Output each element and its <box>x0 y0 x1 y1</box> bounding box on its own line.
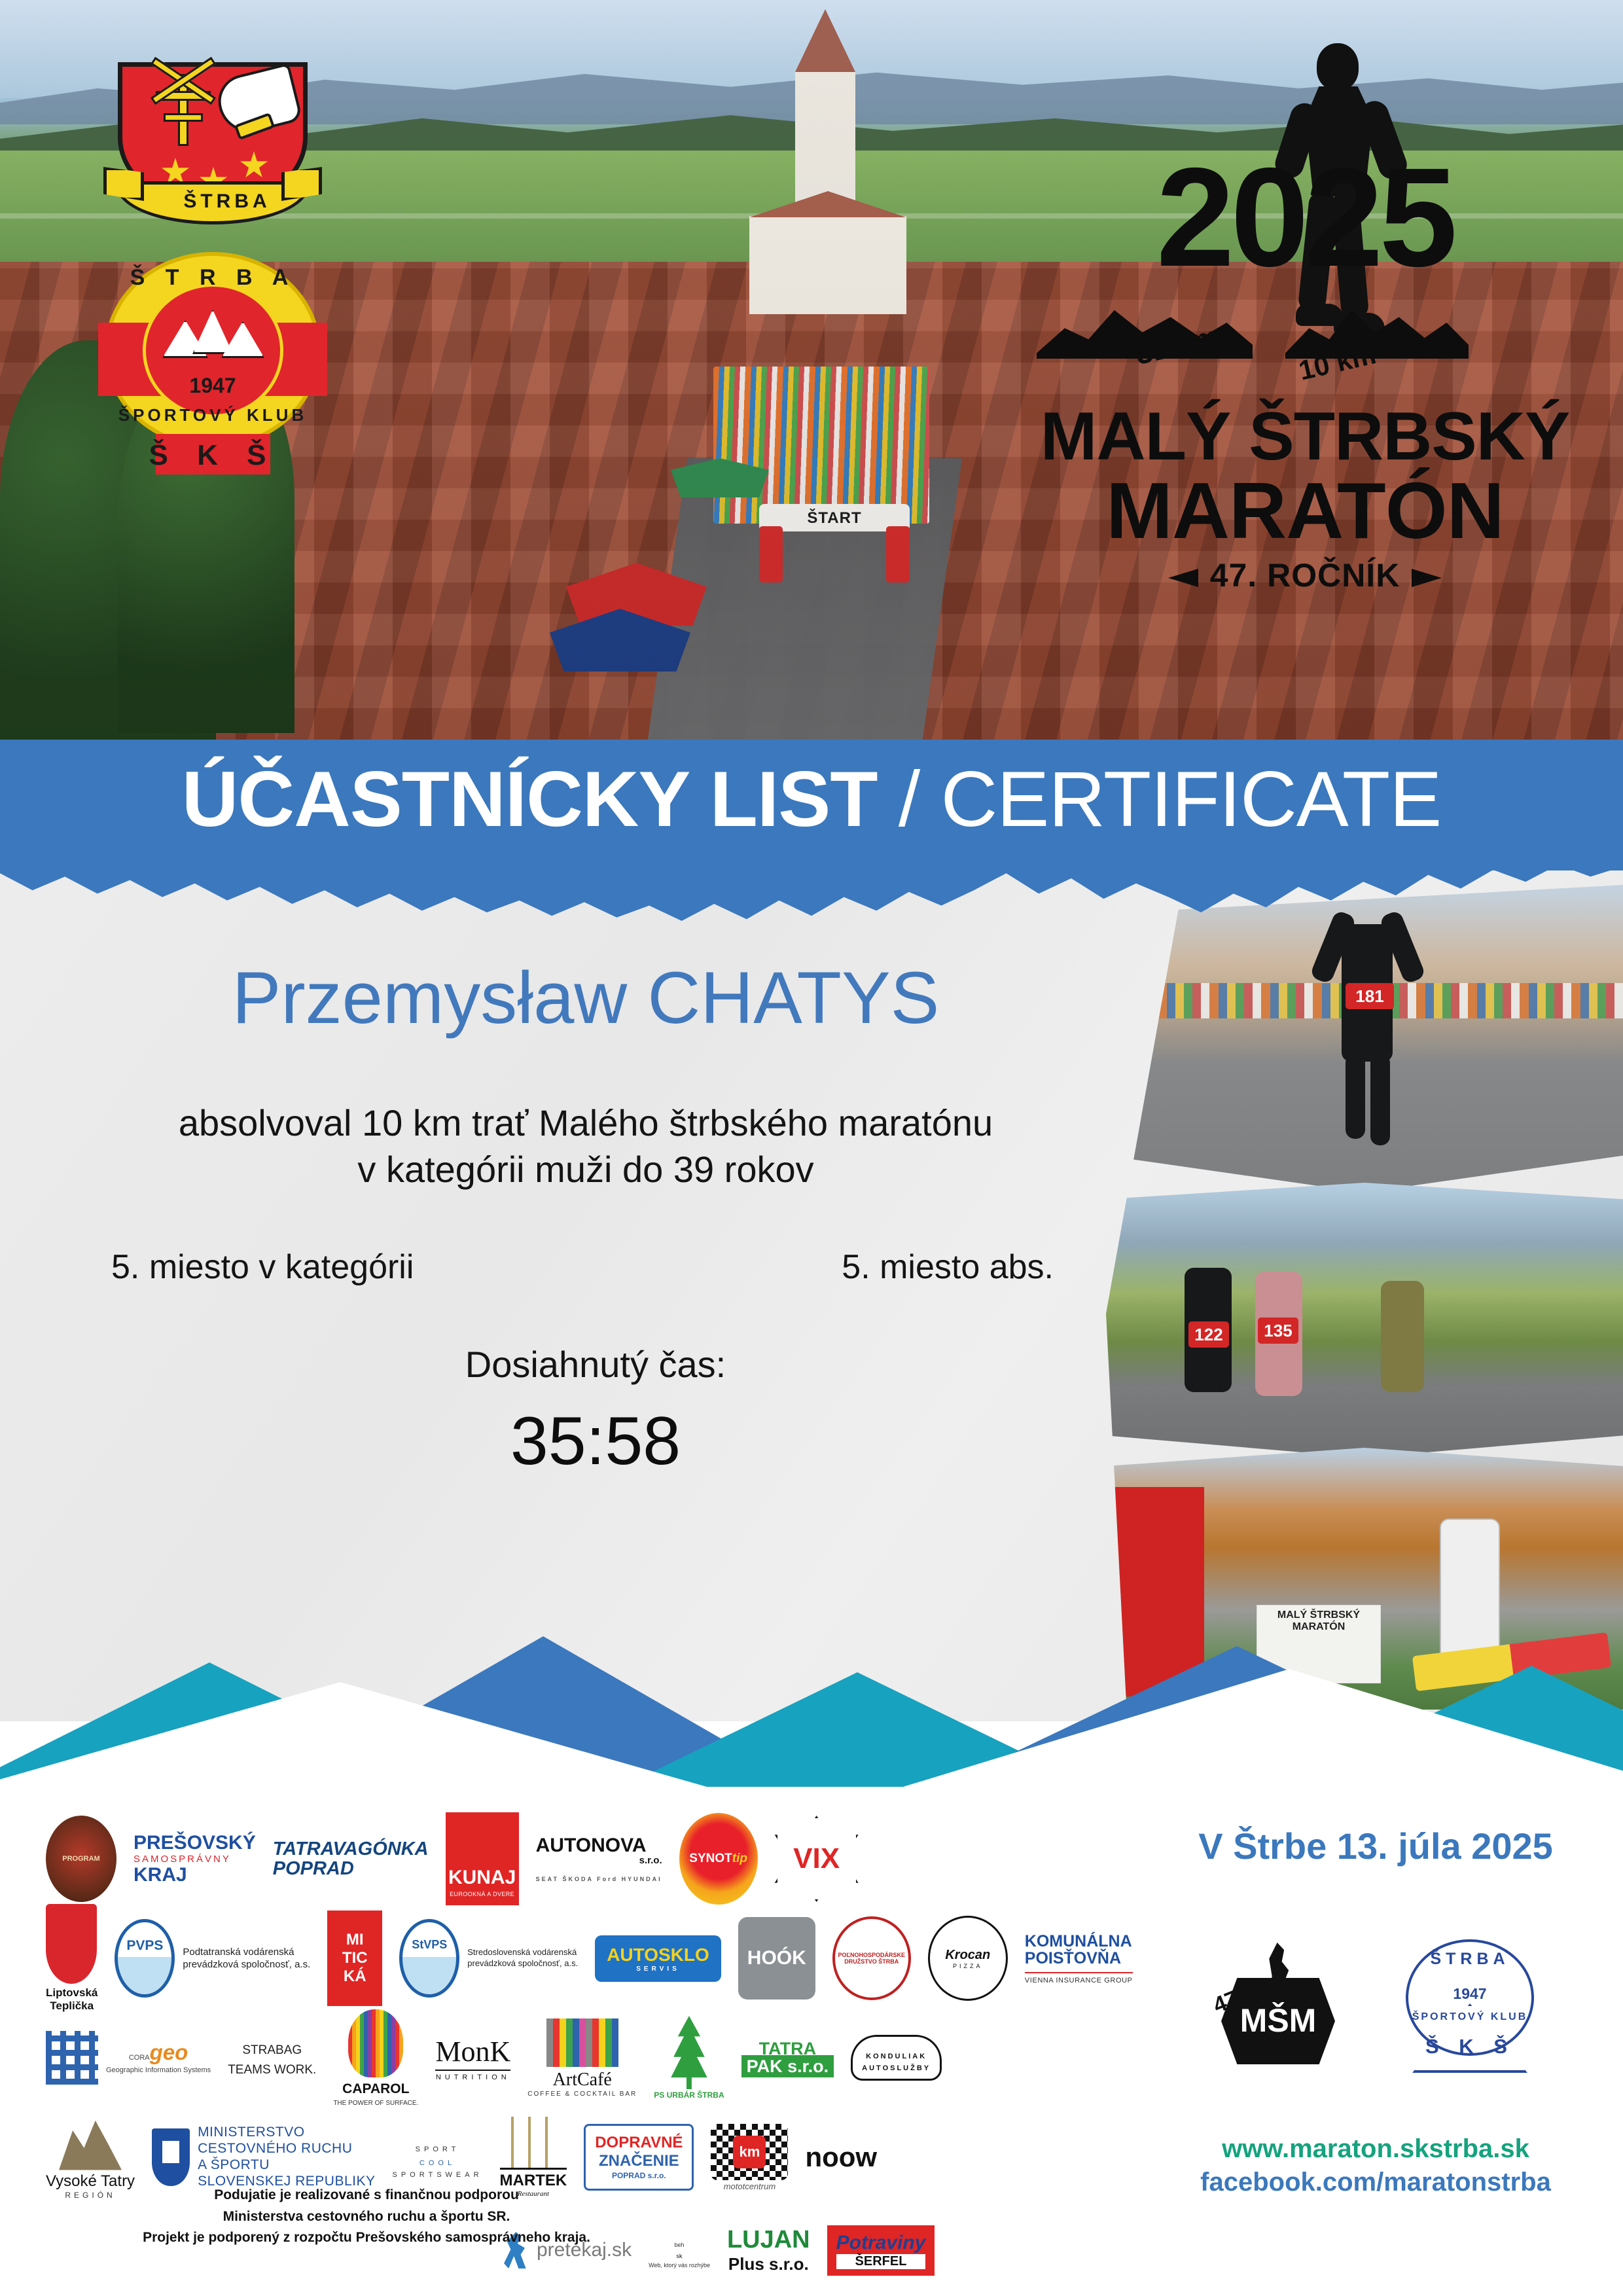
sponsor-label: PAK s.r.o. <box>741 2055 834 2077</box>
sponsor-km-mototcentrum: km mototcentrum <box>711 2124 788 2191</box>
sponsor-label: PVPS <box>115 1919 175 1998</box>
sponsor-label: Potraviny <box>836 2232 926 2254</box>
bib-number: 122 <box>1188 1321 1229 1348</box>
sponsor-ps-urbar-strba: PS URBÁR ŠTRBA <box>654 2016 724 2100</box>
sponsor-label: Stredoslovenská vodárenská <box>467 1947 578 1958</box>
sponsor-label: PS URBÁR ŠTRBA <box>654 2090 724 2100</box>
description-line-1: absolvoval 10 km trať Malého štrbského m… <box>20 1100 1152 1147</box>
sponsor-label: AUTONOVA <box>536 1836 662 1856</box>
sponsor-monk-nutrition: MonK NUTRITION <box>435 2035 510 2081</box>
sponsor-label: MonK <box>435 2036 510 2068</box>
collage-photo-group: 122 135 <box>1106 1183 1623 1458</box>
mountain-divider <box>0 1604 1623 1787</box>
bib-number: 181 <box>1346 983 1394 1009</box>
mountain-outline-right <box>1285 289 1469 359</box>
emblem-abbrev: Š K Š <box>98 439 327 472</box>
time-label: Dosiahnutý čas: <box>0 1343 1152 1386</box>
sponsor-pd-strba: POĽNOHOSPODÁRSKE DRUŽSTVO ŠTRBA <box>832 1916 911 2000</box>
sponsor-autonova: AUTONOVA s.r.o. SEAT ŠKODA Ford HYUNDAI <box>536 1836 662 1882</box>
sponsor-label: POISŤOVŇA <box>1025 1950 1133 1967</box>
sponsor-label: CAPAROL <box>333 2081 418 2097</box>
title-separator: / <box>878 755 941 843</box>
disclaimer-line-2: Ministerstva cestovného ruchu a športu S… <box>39 2206 694 2228</box>
sponsor-label: sk <box>649 2253 710 2259</box>
sponsor-strabag: STRABAG TEAMS WORK. <box>228 2038 316 2077</box>
sponsor-autosklo-servis: AUTOSKLO SERVIS <box>595 1935 721 1982</box>
sponsor-label: A ŠPORTU <box>198 2157 375 2174</box>
car-brands-label: SEAT ŠKODA Ford HYUNDAI <box>536 1876 662 1882</box>
sponsor-label: TATRAVAGÓNKA <box>273 1839 429 1859</box>
sponsor-label: mototcentrum <box>711 2181 788 2191</box>
sponsor-label: COFFEE & COCKTAIL BAR <box>527 2090 637 2098</box>
sponsor-ministerstvo: MINISTERSTVO CESTOVNÉHO RUCHU A ŠPORTU S… <box>152 2125 375 2189</box>
certificate-content: Przemysław CHATYS absolvoval 10 km trať … <box>0 956 1152 1480</box>
mountain-peaks-icon <box>158 306 267 358</box>
stamp-top-label: ŠTRBA <box>1406 1950 1534 1969</box>
sponsor-label: PREŠOVSKÝ <box>134 1833 256 1854</box>
disclaimer-line-1: Podujatie je realizované s finančnou pod… <box>39 2185 694 2206</box>
emblem-top-label: Š T R B A <box>98 265 327 291</box>
footer-right-column: V Štrbe 13. júla 2025 47. MŠM ŠTRBA 1947… <box>1147 1793 1605 2197</box>
sponsor-stvps: StVPS Stredoslovenská vodárenská prevádz… <box>399 1919 578 1998</box>
sponsor-dopravne-znacenie: DOPRAVNÉ ZNAČENIE POPRAD s.r.o. <box>584 2124 694 2191</box>
sponsor-label: POPRAD s.r.o. <box>612 2171 666 2180</box>
sponsor-tatravagonka: TATRAVAGÓNKA POPRAD <box>273 1839 429 1878</box>
sponsor-label: Plus s.r.o. <box>728 2254 809 2274</box>
sponsor-label: km <box>733 2136 766 2168</box>
double-cross-icon <box>144 74 229 146</box>
sponsor-row: Liptovská Teplička PVPS Podtatranská vod… <box>46 1909 1158 2008</box>
description-line-2: v kategórii muži do 39 rokov <box>20 1147 1152 1193</box>
emblem-year: 1947 <box>98 374 327 398</box>
sponsor-label: SAMOSPRÁVNY <box>134 1854 256 1865</box>
finish-time: 35:58 <box>0 1403 1152 1480</box>
sponsor-label: AUTOSLUŽBY <box>862 2064 931 2072</box>
sponsor-corageo: CORAgeo Geographic Information Systems <box>46 2031 211 2085</box>
photo-collage: 181 122 135 MALÝ ŠTRBSKÝ MARATÓN <box>1106 885 1623 1710</box>
arrow-left-icon <box>1147 569 1198 587</box>
sponsor-label: SPORTSWEAR <box>393 2171 483 2179</box>
event-logo: 2025 31 km 10 km MALÝ ŠTRBSKÝ MARATÓN 47… <box>1024 39 1586 628</box>
sponsor-hook: HOÓK <box>738 1917 815 2000</box>
stamp-abbrev: MŠM <box>1221 2001 1335 2039</box>
title-en: CERTIFICATE <box>941 755 1442 843</box>
sponsor-tatra-pak: TATRA PAK s.r.o. <box>741 2040 834 2075</box>
arrow-right-icon <box>1412 569 1463 587</box>
sponsor-komunalna-poistovna: KOMUNÁLNA POISŤOVŇA VIENNA INSURANCE GRO… <box>1025 1933 1133 1984</box>
bib-number: 135 <box>1258 1318 1298 1344</box>
sponsor-label: EUROOKNÁ A DVERE <box>450 1892 514 1897</box>
sponsor-miticka: MI TIC KÁ <box>327 1910 382 2006</box>
issue-date: V Štrbe 13. júla 2025 <box>1147 1825 1605 1867</box>
sks-club-emblem: Š T R B A 1947 ŠPORTOVÝ KLUB Š K Š <box>98 245 327 468</box>
athlete-name: Przemysław CHATYS <box>0 956 1152 1040</box>
official-stamps: 47. MŠM ŠTRBA 1947 ŠPORTOVÝ KLUB Š K Š <box>1147 1935 1605 2079</box>
strba-coat-of-arms: ŠTRBA <box>118 62 308 239</box>
sponsor-konduliak: KONDULIAK AUTOSLUŽBY <box>851 2035 942 2081</box>
sponsor-label: ŠERFEL <box>836 2254 926 2269</box>
sponsor-sportcool: SPORTCOOL SPORTSWEAR <box>393 2136 483 2179</box>
sponsor-label: PIZZA <box>953 1963 983 1969</box>
funding-disclaimer: Podujatie je realizované s finančnou pod… <box>39 2185 694 2249</box>
sponsor-label: prevádzková spoločnosť, a.s. <box>467 1958 578 1969</box>
sponsor-label: SPORT <box>416 2145 460 2153</box>
sponsor-row: CORAgeo Geographic Information Systems S… <box>46 2008 1158 2108</box>
disclaimer-line-3: Projekt je podporený z rozpočtu Prešovsk… <box>39 2227 694 2249</box>
sponsor-label: STRABAG <box>228 2043 316 2058</box>
footer: PROGRAM PREŠOVSKÝ SAMOSPRÁVNY KRAJ TATRA… <box>0 1767 1623 2296</box>
sponsor-label: Podtatranská vodárenská <box>183 1946 310 1959</box>
sponsor-label: PROGRAM <box>62 1855 99 1863</box>
sponsor-pvps: PVPS Podtatranská vodárenská prevádzková… <box>115 1919 310 1998</box>
sponsor-label: SERVIS <box>607 1965 709 1973</box>
sponsor-label: KRAJ <box>134 1865 256 1886</box>
sponsor-liptovska-teplicka: Liptovská Teplička <box>46 1904 98 2013</box>
sponsor-presovsky-kraj: PREŠOVSKÝ SAMOSPRÁVNY KRAJ <box>134 1833 256 1885</box>
sponsor-label: KUNAJ <box>448 1867 516 1889</box>
sponsor-krocan-pizza: Krocan PIZZA <box>928 1916 1008 2001</box>
sponsor-noow: noow <box>805 2142 877 2173</box>
sponsor-potraviny-serfel: Potraviny ŠERFEL <box>827 2225 935 2276</box>
achievement-description: absolvoval 10 km trať Malého štrbského m… <box>0 1100 1152 1193</box>
contact-links: www.maraton.skstrba.sk facebook.com/mara… <box>1147 2134 1605 2197</box>
title-sk: ÚČASTNÍCKY LIST <box>182 755 878 843</box>
stamp-abbrev: Š K Š <box>1406 2035 1534 2257</box>
sponsor-label: Web, ktorý vás rozhýbe <box>649 2262 710 2269</box>
crest-town-label: ŠTRBA <box>118 190 336 213</box>
sponsor-label: Geographic Information Systems <box>106 2066 211 2074</box>
placement-row: 5. miesto v kategórii 5. miesto abs. <box>0 1247 1152 1287</box>
sponsor-artcafe: ArtCafé COFFEE & COCKTAIL BAR <box>527 2018 637 2098</box>
sponsor-label: prevádzková spoločnosť, a.s. <box>183 1958 310 1971</box>
sponsor-label: SYNOT <box>689 1852 732 1866</box>
emblem-club-label: ŠPORTOVÝ KLUB <box>98 405 327 425</box>
sponsor-label: POPRAD <box>273 1859 429 1878</box>
event-year: 2025 <box>1024 154 1586 281</box>
website-link[interactable]: www.maraton.skstrba.sk <box>1147 2134 1605 2164</box>
sponsor-label: Krocan <box>945 1948 990 1963</box>
sponsor-label: Liptovská <box>46 1986 98 2000</box>
sponsor-label: KÁ <box>342 1967 368 1986</box>
sponsor-caparol: CAPAROL THE POWER OF SURFACE. <box>333 2009 418 2107</box>
collage-photo-finisher: 181 <box>1106 885 1623 1193</box>
event-edition-row: 47. ROČNÍK <box>1024 556 1586 594</box>
sponsor-row: PROGRAM PREŠOVSKÝ SAMOSPRÁVNY KRAJ TATRA… <box>46 1809 1158 1909</box>
sponsor-label: Teplička <box>46 2000 98 2013</box>
sponsor-label: CESTOVNÉHO RUCHU <box>198 2141 375 2157</box>
sponsor-label: KOMUNÁLNA <box>1025 1933 1133 1950</box>
sponsor-label: noow <box>805 2142 877 2173</box>
msm-stamp: 47. MŠM <box>1209 1939 1347 2076</box>
facebook-link[interactable]: facebook.com/maratonstrba <box>1147 2168 1605 2197</box>
sponsor-label: MI <box>342 1931 368 1949</box>
sponsor-label: VIX <box>775 1816 859 1902</box>
event-title-line2: MARATÓN <box>1024 465 1586 556</box>
sponsor-kunaj: KUNAJ EUROOKNÁ A DVERE <box>446 1812 519 1905</box>
sponsor-label: AUTOSKLO <box>607 1945 709 1965</box>
event-edition-label: 47. ROČNÍK <box>1210 557 1400 594</box>
emblems-group: ŠTRBA Š T R B A 1947 ŠPORTOVÝ KLUB Š K Š <box>98 62 327 612</box>
stamp-year: 1947 <box>1406 1985 1534 2003</box>
sponsor-label: StVPS <box>399 1919 459 1998</box>
sponsor-lujan-plus: LUJAN Plus s.r.o. <box>727 2226 810 2274</box>
sponsor-label: THE POWER OF SURFACE. <box>333 2100 418 2107</box>
sponsor-label: TIC <box>342 1949 368 1967</box>
sponsor-label: DOPRAVNÉ <box>595 2134 683 2152</box>
sponsor-label: POĽNOHOSPODÁRSKE DRUŽSTVO ŠTRBA <box>832 1916 911 2000</box>
stamp-club-label: ŠPORTOVÝ KLUB <box>1406 2011 1534 2023</box>
sponsor-program-trencin: PROGRAM <box>46 1816 116 1902</box>
sponsor-label: COOL <box>393 2159 483 2167</box>
sponsor-label: HOÓK <box>738 1917 815 2000</box>
sponsor-label: CORA <box>129 2054 150 2062</box>
sponsor-label: s.r.o. <box>536 1856 662 1865</box>
place-absolute: 5. miesto abs. <box>842 1247 1054 1287</box>
sponsor-label: KONDULIAK <box>862 2053 931 2060</box>
place-category: 5. miesto v kategórii <box>111 1247 414 1287</box>
sks-stamp: ŠTRBA 1947 ŠPORTOVÝ KLUB Š K Š <box>1398 1935 1542 2079</box>
sponsor-label: ZNAČENIE <box>595 2152 683 2170</box>
sponsor-synot-tip: SYNOTtip <box>679 1813 758 1905</box>
sponsor-label: LUJAN <box>727 2226 810 2254</box>
page-title: ÚČASTNÍCKY LIST / CERTIFICATE <box>0 754 1623 844</box>
sponsor-label: MINISTERSTVO <box>198 2125 375 2141</box>
sponsor-label: tip <box>732 1852 747 1866</box>
sponsor-label: NUTRITION <box>435 2070 510 2081</box>
sponsor-label: TEAMS WORK. <box>228 2063 316 2077</box>
sponsor-vix: VIX <box>775 1816 859 1902</box>
sponsor-label: ArtCafé <box>527 2070 637 2090</box>
sponsor-label: VIENNA INSURANCE GROUP <box>1025 1972 1133 1984</box>
sponsor-label: geo <box>150 2040 188 2064</box>
